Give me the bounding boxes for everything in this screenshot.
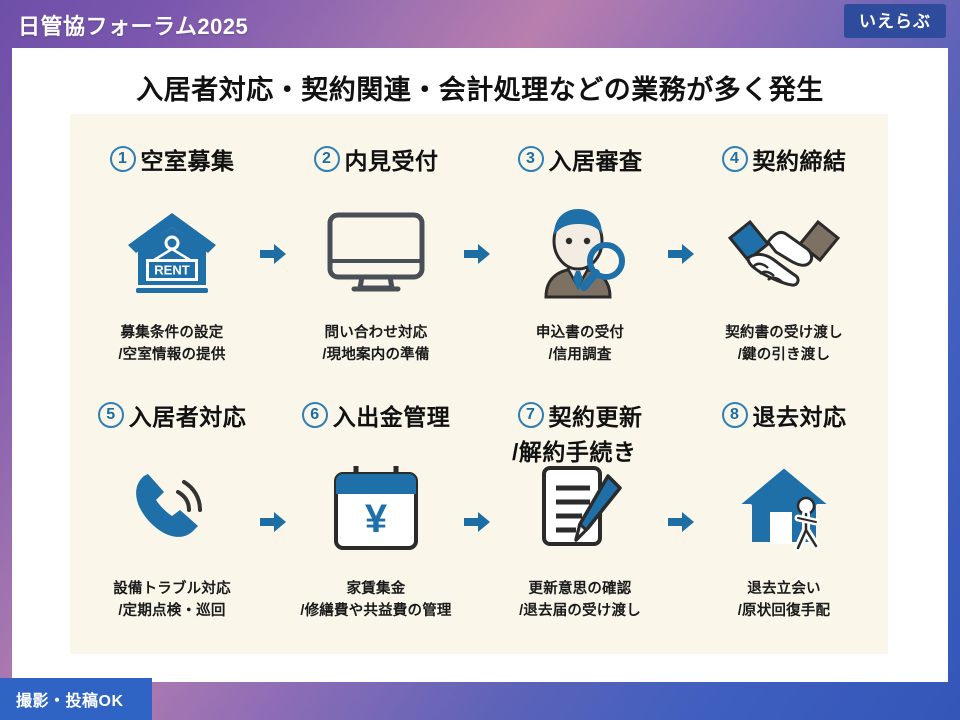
step-heading: 4 契約締結 — [682, 142, 886, 176]
step-title: 退去対応 — [753, 398, 847, 432]
businessman-magnifier-icon — [478, 198, 682, 306]
desktop-monitor-icon — [274, 198, 478, 306]
step-title: 内見受付 — [345, 142, 439, 176]
brand-logo: いえらぶ — [844, 4, 946, 38]
workflow-step-3: 3 入居審査 — [478, 130, 682, 392]
step-heading: 6 入出金管理 — [274, 398, 478, 432]
step-caption: 申込書の受付 /信用調査 — [478, 322, 682, 367]
arrow-right-icon — [258, 510, 288, 534]
arrow-right-icon — [462, 510, 492, 534]
caption-line-1: 申込書の受付 — [478, 322, 682, 344]
step-caption: 退去立会い /原状回復手配 — [682, 578, 886, 623]
workflow-step-5: 5 入居者対応 設備トラブル対応 /定期点検・巡回 — [70, 386, 274, 648]
workflow-step-8: 8 退去対応 退去立会い — [682, 386, 886, 648]
caption-line-2: /空室情報の提供 — [70, 344, 274, 366]
workflow-step-7: 7 契約更新 /解約手続き — [478, 386, 682, 648]
caption-line-2: /原状回復手配 — [682, 600, 886, 622]
caption-line-1: 募集条件の設定 — [70, 322, 274, 344]
step-number-badge: 2 — [314, 146, 340, 172]
step-title: 入出金管理 — [333, 398, 451, 432]
caption-line-2: /信用調査 — [478, 344, 682, 366]
step-title: 入居審査 — [549, 142, 643, 176]
step-caption: 問い合わせ対応 /現地案内の準備 — [274, 322, 478, 367]
caption-line-2: /退去届の受け渡し — [478, 600, 682, 622]
caption-line-1: 契約書の受け渡し — [682, 322, 886, 344]
house-rent-sign-icon: RENT — [70, 198, 274, 306]
caption-line-1: 設備トラブル対応 — [70, 578, 274, 600]
slide-heading: 入居者対応・契約関連・会計処理などの業務が多く発生 — [0, 68, 960, 107]
handshake-icon — [682, 198, 886, 306]
slide-background: 日管協フォーラム2025 いえらぶ 入居者対応・契約関連・会計処理などの業務が多… — [0, 0, 960, 720]
workflow-row-1: 1 空室募集 RENT — [70, 130, 888, 392]
photo-post-ok-badge: 撮影・投稿OK — [0, 678, 152, 720]
svg-text:RENT: RENT — [154, 263, 189, 278]
step-heading: 3 入居審査 — [478, 142, 682, 176]
caption-line-2: /鍵の引き渡し — [682, 344, 886, 366]
workflow-row-2: 5 入居者対応 設備トラブル対応 /定期点検・巡回 — [70, 386, 888, 648]
workflow-step-2: 2 内見受付 問い合わせ対応 /現地案内の準備 — [274, 130, 478, 392]
workflow-step-1: 1 空室募集 RENT — [70, 130, 274, 392]
page-title: 日管協フォーラム2025 — [18, 9, 248, 41]
workflow-diagram: 1 空室募集 RENT — [70, 114, 888, 654]
calendar-yen-icon: ¥ — [274, 454, 478, 562]
caption-line-2: /修繕費や共益費の管理 — [274, 600, 478, 622]
arrow-right-icon — [666, 242, 696, 266]
house-person-leaving-icon — [682, 454, 886, 562]
step-title: 契約締結 — [753, 142, 847, 176]
slide-header: 日管協フォーラム2025 いえらぶ — [0, 0, 960, 48]
arrow-right-icon — [666, 510, 696, 534]
caption-line-1: 退去立会い — [682, 578, 886, 600]
step-caption: 募集条件の設定 /空室情報の提供 — [70, 322, 274, 367]
telephone-ringing-icon — [70, 454, 274, 562]
step-caption: 設備トラブル対応 /定期点検・巡回 — [70, 578, 274, 623]
step-caption: 更新意思の確認 /退去届の受け渡し — [478, 578, 682, 623]
caption-line-1: 更新意思の確認 — [478, 578, 682, 600]
workflow-step-6: 6 入出金管理 ¥ 家賃集金 /修繕費や共益費の管理 — [274, 386, 478, 648]
step-heading: 5 入居者対応 — [70, 398, 274, 432]
arrow-right-icon — [462, 242, 492, 266]
step-caption: 家賃集金 /修繕費や共益費の管理 — [274, 578, 478, 623]
caption-line-1: 家賃集金 — [274, 578, 478, 600]
step-heading: 1 空室募集 — [70, 142, 274, 176]
step-number-badge: 6 — [302, 402, 328, 428]
step-number-badge: 3 — [518, 146, 544, 172]
workflow-step-4: 4 契約締結 契約書の受け渡し — [682, 130, 886, 392]
photo-post-ok-label: 撮影・投稿OK — [16, 687, 124, 711]
step-heading: 8 退去対応 — [682, 398, 886, 432]
arrow-right-icon — [258, 242, 288, 266]
step-caption: 契約書の受け渡し /鍵の引き渡し — [682, 322, 886, 367]
caption-line-2: /現地案内の準備 — [274, 344, 478, 366]
document-pencil-icon — [478, 454, 682, 562]
step-number-badge: 1 — [110, 146, 136, 172]
step-number-badge: 7 — [518, 402, 544, 428]
brand-logo-text: いえらぶ — [859, 13, 931, 30]
caption-line-1: 問い合わせ対応 — [274, 322, 478, 344]
step-number-badge: 8 — [722, 402, 748, 428]
step-number-badge: 4 — [722, 146, 748, 172]
step-heading: 2 内見受付 — [274, 142, 478, 176]
svg-text:¥: ¥ — [365, 497, 388, 541]
step-title: 空室募集 — [141, 142, 235, 176]
caption-line-2: /定期点検・巡回 — [70, 600, 274, 622]
step-title: 入居者対応 — [129, 398, 247, 432]
step-title: 契約更新 — [549, 398, 643, 432]
step-number-badge: 5 — [98, 402, 124, 428]
